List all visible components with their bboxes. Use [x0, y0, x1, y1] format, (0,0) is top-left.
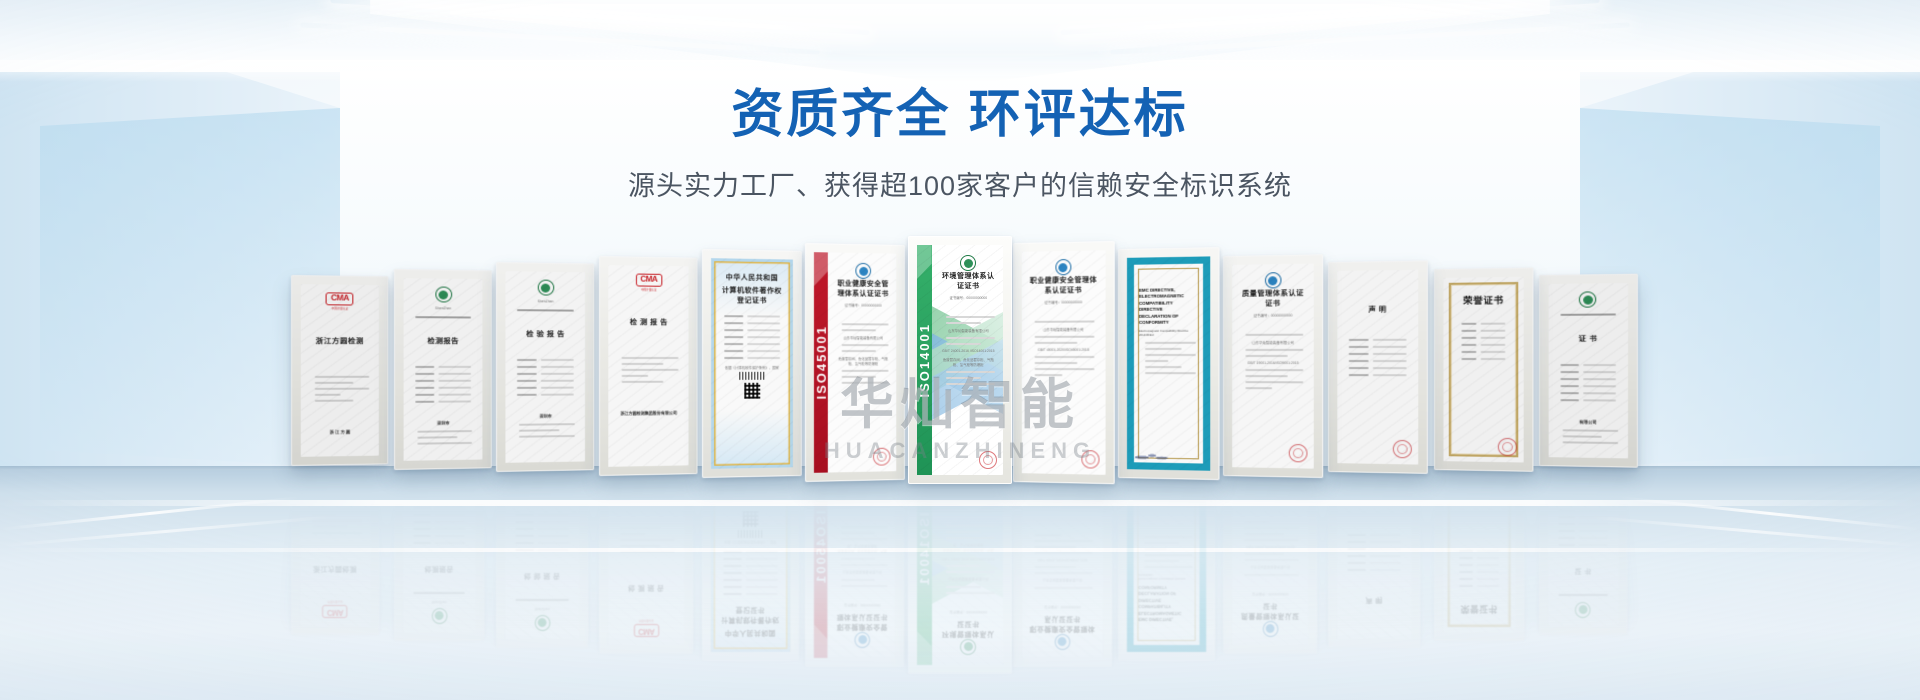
text-line: [842, 381, 889, 383]
field-row: [1461, 343, 1505, 345]
text-line: [519, 435, 575, 438]
certificate-frame[interactable]: 证 书 有限公司: [1539, 274, 1638, 468]
certificate-number: 证书编号：00000000000: [836, 302, 890, 307]
frame-mat: 荣誉证书: [1443, 276, 1523, 461]
certificate-number: 证书编号：00000000000: [1240, 312, 1308, 318]
certificate-paper: EMC DIRECTIVE,ELECTROMAGNETIC COMPATIBIL…: [1127, 256, 1210, 470]
certificate-body: 职业健康安全管理体系认证证书 证书编号：00000000000 山东华灿智能装备…: [1022, 250, 1106, 474]
certificate-footer: 浙江方圆检测集团股份有限公司: [616, 410, 682, 417]
text-line: [946, 383, 995, 385]
certificate-paper: ShenZhen 检测报告 深圳市: [403, 278, 482, 460]
cma-badge: CMA: [326, 292, 354, 305]
frame-mat: CMA 中国计量认证 浙江方圆检测 浙 江 方 圆: [300, 284, 378, 457]
field-row: [517, 394, 574, 396]
certificate-fields: 山东华灿智能装备有限公司 GB/T 24001-2016 /ISO14001:2…: [940, 316, 997, 385]
certificate-paper: 声 明: [1338, 270, 1419, 465]
field-row: [1349, 346, 1407, 348]
text-line: [1145, 360, 1168, 362]
qualification-banner: 资质齐全 环评达标 源头实力工厂、获得超100家客户的信赖安全标识系统 CMA …: [0, 0, 1920, 700]
text-line: [946, 343, 982, 345]
text-line: [1145, 354, 1195, 356]
certification-emblem: [1579, 291, 1596, 307]
text-line: [1246, 381, 1304, 383]
spine-corner-accent: [917, 245, 932, 279]
certificate-paper: ShenZhen 检 验 报 告 深圳市: [506, 271, 586, 463]
certificate-body: 质量管理体系认证证书 证书编号：00000000000 山东华灿智能装备有限公司…: [1232, 263, 1314, 468]
text-line: [1246, 369, 1304, 371]
official-stamp: [979, 451, 997, 469]
field-row: [724, 315, 779, 317]
frame-mat: ISO45001 职业健康安全管理体系认证证书 证书编号：00000000000…: [814, 252, 896, 472]
iso-spine-label: ISO45001: [814, 325, 829, 399]
certificate-frame[interactable]: ShenZhen 检测报告 深圳市: [394, 269, 492, 470]
cma-badge: CMA: [636, 273, 662, 286]
text-line: [1035, 355, 1095, 357]
official-stamp: [1497, 437, 1516, 455]
certificate-fields: 山东华灿智能装备有限公司 GB/T 45001-2020/ISO45001:20…: [1029, 320, 1099, 376]
text-line: [1035, 335, 1095, 337]
certification-emblem: [538, 280, 555, 296]
certificate-body: ShenZhen 检测报告 深圳市: [403, 278, 482, 460]
frame-mat: CMA 中国计量认证 检 测 报 告 浙江方圆检测集团股份有限公司: [609, 265, 690, 466]
certificate-title: 环境管理体系认证证书: [940, 271, 997, 291]
text-line: [1145, 348, 1181, 350]
text-line: [622, 374, 649, 376]
frame-mat: 职业健康安全管理体系认证证书 证书编号：00000000000 山东华灿智能装备…: [1022, 250, 1106, 474]
text-line: [1035, 320, 1095, 322]
certificate-fields: [1345, 339, 1411, 377]
frame-mat: EMC DIRECTIVE,ELECTROMAGNETIC COMPATIBIL…: [1127, 256, 1210, 470]
field-row: [724, 336, 779, 338]
field-row: [517, 373, 574, 375]
certificate-title: 中华人民共和国: [720, 272, 783, 283]
text-line: [622, 362, 663, 364]
field-row: [724, 329, 779, 331]
certificate-body: 声 明: [1338, 270, 1419, 465]
text-line: [1035, 341, 1078, 343]
text-line: [842, 329, 876, 331]
field-row: [1461, 336, 1505, 338]
field-row: [415, 379, 471, 381]
signature: [1135, 451, 1169, 462]
text-line: [842, 350, 876, 352]
certificate-frame[interactable]: ISO45001 职业健康安全管理体系认证证书 证书编号：00000000000…: [805, 243, 905, 482]
certificate-title: 质量管理体系认证证书: [1240, 288, 1308, 309]
text-line: [1246, 354, 1288, 356]
text-line: [1562, 441, 1617, 444]
page-subtitle: 源头实力工厂、获得超100家客户的信赖安全标识系统: [0, 164, 1920, 203]
field-row: [517, 366, 574, 368]
text-line: [946, 316, 995, 318]
divider: [518, 309, 574, 311]
certification-emblem: [856, 262, 872, 278]
text-line: [1246, 375, 1288, 377]
field-row: [1349, 360, 1407, 362]
certificate-frame[interactable]: CMA 中国计量认证 检 测 报 告 浙江方圆检测集团股份有限公司: [599, 256, 698, 476]
iso-spine: ISO14001: [917, 245, 932, 475]
certificate-title: 职业健康安全管理体系认证证书: [836, 278, 890, 298]
text-line: [314, 388, 368, 390]
divider: [415, 316, 470, 318]
certificate-body: 荣誉证书: [1443, 276, 1523, 461]
certificate-body: CMA 中国计量认证 浙江方圆检测 浙 江 方 圆: [300, 284, 378, 457]
frame-mat: 声 明: [1338, 270, 1419, 465]
field-row: [415, 372, 471, 374]
text-line: [842, 369, 889, 371]
text-line: [1246, 387, 1273, 389]
certificate-body: 证 书 有限公司: [1548, 283, 1627, 458]
certification-emblem: [1055, 258, 1071, 274]
certificate-title: 检 验 报 告: [513, 329, 578, 339]
issuer-name: ShenZhen: [411, 306, 475, 310]
text-line: [946, 371, 995, 373]
certificate-footer: 深圳市: [411, 420, 475, 427]
text-line: [314, 400, 353, 402]
official-stamp: [1393, 440, 1412, 459]
field-row: [1560, 385, 1615, 387]
spine-corner-accent: [814, 252, 828, 286]
text-line: [842, 344, 889, 346]
certificate-standard: GB/T 24001-2016 /ISO14001:2015: [940, 349, 997, 353]
text-line: [1562, 429, 1617, 432]
certificate-frame[interactable]: 声 明: [1328, 260, 1428, 474]
certificate-fields: [1556, 364, 1620, 402]
certificate-scope: 危废暂存间、危化品暂存柜、气瓶柜、氢气柜等防爆柜: [940, 357, 997, 367]
certificate-title: 职业健康安全管理体系认证证书: [1029, 274, 1099, 295]
certificate-number: 证书编号：00000000000: [940, 295, 997, 300]
floor-highlight: [0, 548, 1920, 552]
field-row: [1349, 353, 1407, 355]
certificate-body: ShenZhen 检 验 报 告 深圳市: [506, 271, 586, 463]
certificate-paper: CMA 中国计量认证 检 测 报 告 浙江方圆检测集团股份有限公司: [609, 265, 690, 466]
certificate-standard: GB/T 19001-2016/ISO9001:2015: [1240, 361, 1308, 365]
text-line: [622, 357, 679, 359]
field-row: [1349, 374, 1407, 376]
field-row: [415, 400, 471, 402]
frame-mat: 中华人民共和国 计算机软件著作权登记证书 依据《计算机软件保护条例》，国家: [711, 258, 792, 469]
field-row: [517, 380, 574, 382]
field-row: [1560, 392, 1615, 394]
certificate-body: EMC DIRECTIVE,ELECTROMAGNETIC COMPATIBIL…: [1127, 256, 1210, 470]
certificate-frame[interactable]: 职业健康安全管理体系认证证书 证书编号：00000000000 山东华灿智能装备…: [1013, 240, 1114, 483]
certificate-number: 证书编号：00000000000: [1029, 299, 1099, 305]
text-line: [417, 430, 472, 433]
certificate-title: 声 明: [1345, 304, 1411, 315]
text-line: [1035, 362, 1078, 364]
certificate-footer: 有限公司: [1556, 419, 1620, 426]
field-row: [1349, 367, 1407, 369]
certificate-fields: [720, 315, 783, 359]
certificate-fields: 山东华灿智能装备有限公司 GB/T 19001-2016/ISO9001:201…: [1240, 333, 1308, 389]
certificate-frame[interactable]: EMC DIRECTIVE,ELECTROMAGNETIC COMPATIBIL…: [1118, 247, 1219, 480]
field-row: [1461, 357, 1505, 359]
frame-mat: ISO14001 环境管理体系认证证书 证书编号：00000000000 山东华…: [917, 245, 1003, 475]
certificate-fields: [308, 376, 371, 402]
certificate-company: 山东华灿智能装备有限公司: [1029, 326, 1099, 331]
declaration-body: Electromagnetic Compatibility Directive …: [1139, 329, 1197, 338]
divider: [1560, 313, 1615, 315]
iso-spine: ISO45001: [814, 252, 828, 472]
text-line: [314, 376, 368, 378]
certificate-frame[interactable]: ISO14001 环境管理体系认证证书 证书编号：00000000000 山东华…: [908, 236, 1012, 484]
certificate-frame[interactable]: 中华人民共和国 计算机软件著作权登记证书 依据《计算机软件保护条例》，国家: [702, 249, 801, 478]
certificate-frame[interactable]: ShenZhen 检 验 报 告 深圳市: [496, 262, 594, 472]
certificate-body: 职业健康安全管理体系认证证书 证书编号：00000000000 山东华灿智能装备…: [828, 252, 896, 472]
headline-block: 资质齐全 环评达标 源头实力工厂、获得超100家客户的信赖安全标识系统: [0, 86, 1920, 203]
certificate-body: 中华人民共和国 计算机软件著作权登记证书 依据《计算机软件保护条例》，国家: [711, 258, 792, 469]
certificate-title: 荣誉证书: [1457, 293, 1509, 307]
field-row: [1461, 350, 1505, 352]
certificate-paper: 质量管理体系认证证书 证书编号：00000000000 山东华灿智能装备有限公司…: [1232, 263, 1314, 468]
field-row: [724, 350, 779, 352]
text-line: [1145, 372, 1195, 374]
text-line: [946, 322, 982, 324]
text-line: [417, 441, 472, 444]
official-stamp: [1289, 443, 1308, 462]
issuer-name: ShenZhen: [513, 299, 578, 304]
text-line: [946, 377, 982, 379]
field-row: [724, 357, 779, 359]
certificate-fields: [616, 357, 682, 383]
field-row: [1560, 399, 1615, 401]
text-line: [314, 382, 353, 384]
certificate-body: 环境管理体系认证证书 证书编号：00000000000 山东华灿智能装备有限公司…: [932, 245, 1003, 475]
cma-badge-subtitle: 中国计量认证: [616, 287, 682, 292]
frame-mat: 证 书 有限公司: [1548, 283, 1627, 458]
certificate-fields: [411, 365, 475, 402]
text-line: [1035, 374, 1063, 376]
certificate-footer: 深圳市: [513, 413, 578, 420]
field-row: [517, 387, 574, 389]
field-row: [1349, 339, 1407, 341]
certificate-title-2: 计算机软件著作权登记证书: [720, 285, 783, 306]
text-line: [842, 375, 876, 377]
text-line: [1145, 366, 1181, 368]
certificate-company: 山东华灿智能装备有限公司: [1240, 339, 1308, 344]
barcode: [739, 372, 765, 380]
declaration-title: EMC DIRECTIVE,ELECTROMAGNETIC COMPATIBIL…: [1139, 287, 1197, 326]
official-stamp: [873, 447, 890, 465]
field-row: [1560, 378, 1615, 380]
text-line: [1246, 333, 1304, 335]
text-line: [519, 423, 575, 426]
certificate-company: 山东华灿智能装备有限公司: [836, 335, 890, 340]
certificate-title: 检 测 报 告: [616, 317, 682, 327]
frame-mat: ShenZhen 检 验 报 告 深圳市: [506, 271, 586, 463]
certification-emblem: [960, 255, 976, 271]
certificate-frame[interactable]: 质量管理体系认证证书 证书编号：00000000000 山东华灿智能装备有限公司…: [1223, 254, 1324, 477]
certificate-paper: 中华人民共和国 计算机软件著作权登记证书 依据《计算机软件保护条例》，国家: [711, 258, 792, 469]
certificate-fields: 山东华灿智能装备有限公司 危废暂存间、危化品暂存柜、气瓶柜、氢气柜等防爆柜: [836, 323, 890, 384]
text-line: [314, 394, 339, 396]
cma-badge-subtitle: 中国计量认证: [308, 306, 371, 310]
certificate-frame[interactable]: CMA 中国计量认证 浙江方圆检测 浙 江 方 圆: [291, 275, 388, 466]
text-line: [1246, 348, 1304, 350]
certificate-scope: 危废暂存间、危化品暂存柜、气瓶柜、氢气柜等防爆柜: [836, 356, 890, 366]
page-title: 资质齐全 环评达标: [0, 86, 1920, 146]
iso-spine-label: ISO14001: [917, 323, 932, 398]
official-stamp: [1081, 449, 1099, 468]
certificate-company: 山东华灿智能装备有限公司: [940, 328, 997, 333]
certificate-paper: 职业健康安全管理体系认证证书 证书编号：00000000000 山东华灿智能装备…: [1022, 250, 1106, 474]
text-line: [417, 436, 457, 438]
certificate-paper: ISO14001 环境管理体系认证证书 证书编号：00000000000 山东华…: [917, 245, 1003, 475]
text-line: [1035, 368, 1095, 370]
field-row: [415, 393, 471, 395]
certificate-paper: ISO45001 职业健康安全管理体系认证证书 证书编号：00000000000…: [814, 252, 896, 472]
field-row: [415, 386, 471, 388]
certificate-title: 证 书: [1556, 334, 1620, 344]
certificate-paper: 荣誉证书: [1443, 276, 1523, 461]
certificate-footer: 浙 江 方 圆: [308, 429, 371, 436]
certificate-paper: CMA 中国计量认证 浙江方圆检测 浙 江 方 圆: [300, 284, 378, 457]
certificate-title: 检测报告: [411, 336, 475, 346]
text-line: [622, 380, 663, 382]
certification-emblem: [434, 286, 451, 302]
certification-emblem: [1265, 272, 1282, 288]
certificate-title: 浙江方圆检测: [308, 336, 371, 346]
text-line: [1145, 341, 1195, 343]
certificate-footer: 依据《计算机软件保护条例》，国家: [720, 365, 783, 370]
text-line: [519, 429, 560, 431]
field-row: [1461, 322, 1505, 324]
field-row: [1560, 371, 1615, 373]
certificate-standard: GB/T 45001-2020/ISO45001:2018: [1029, 347, 1099, 351]
text-line: [946, 337, 995, 339]
text-line: [842, 323, 889, 325]
field-row: [1461, 329, 1505, 331]
field-row: [517, 359, 574, 361]
certificate-gallery: CMA 中国计量认证 浙江方圆检测 浙 江 方 圆 ShenZhen 检测报告 …: [260, 228, 1660, 488]
field-row: [724, 343, 779, 345]
frame-mat: ShenZhen 检测报告 深圳市: [403, 278, 482, 460]
field-row: [415, 365, 471, 367]
floor-highlight: [0, 500, 1920, 506]
certificate-frame[interactable]: 荣誉证书: [1434, 267, 1533, 471]
text-line: [622, 368, 679, 370]
frame-mat: 质量管理体系认证证书 证书编号：00000000000 山东华灿智能装备有限公司…: [1232, 263, 1314, 468]
qr-code: [744, 383, 760, 399]
certificate-paper: 证 书 有限公司: [1548, 283, 1627, 458]
field-row: [724, 322, 779, 324]
certificate-body: CMA 中国计量认证 检 测 报 告 浙江方圆检测集团股份有限公司: [609, 265, 690, 466]
certificate-fields: [1457, 322, 1509, 359]
certificate-fields: [513, 359, 578, 396]
field-row: [1560, 364, 1615, 366]
text-line: [1562, 435, 1602, 438]
